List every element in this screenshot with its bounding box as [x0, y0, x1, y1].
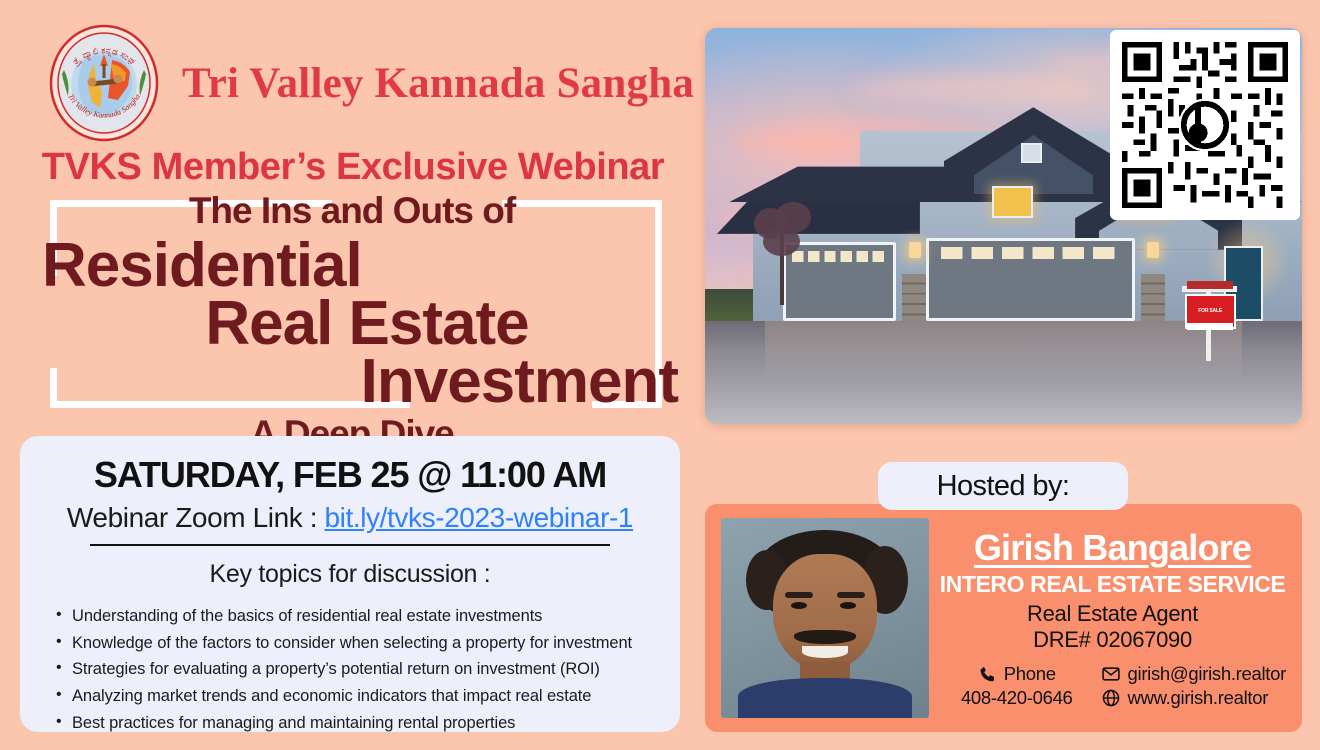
list-item: Analyzing market trends and economic ind…: [56, 683, 658, 710]
event-date-time: SATURDAY, FEB 25 @ 11:00 AM: [42, 454, 658, 496]
webinar-subtitle: TVKS Member’s Exclusive Webinar: [28, 146, 678, 189]
website-url: www.girish.realtor: [1128, 687, 1269, 709]
phone-label: Phone: [1004, 663, 1056, 685]
divider: [90, 544, 610, 546]
contact-grid: Phone girish@girish.realtor 408-420-0646: [939, 663, 1286, 709]
list-item: Understanding of the basics of residenti…: [56, 603, 658, 630]
topics-heading: Key topics for discussion :: [42, 560, 658, 589]
email-row[interactable]: girish@girish.realtor: [1101, 663, 1286, 685]
website-row[interactable]: www.girish.realtor: [1101, 687, 1286, 709]
zoom-link-label: Webinar Zoom Link :: [67, 502, 325, 533]
brand-header: ತ್ರೈ ವ್ಯಾಲಿ ಕನ್ನಡ ಸಂಘ Tri Valley Kannada…: [48, 24, 694, 142]
title-line-2: Residential: [42, 235, 678, 297]
topics-list: Understanding of the basics of residenti…: [56, 603, 658, 737]
girish-bangalore-headshot: [721, 518, 929, 718]
phone-row: Phone: [939, 663, 1095, 685]
host-role: Real Estate Agent: [939, 601, 1286, 627]
phone-number-row[interactable]: 408-420-0646: [939, 687, 1095, 709]
list-item: Best practices for managing and maintain…: [56, 710, 658, 737]
zoom-link-row: Webinar Zoom Link : bit.ly/tvks-2023-web…: [42, 502, 658, 534]
globe-icon: [1101, 688, 1121, 708]
for-sale-sign: FOR SALE: [1177, 281, 1243, 360]
email-address: girish@girish.realtor: [1128, 663, 1286, 685]
host-company: INTERO REAL ESTATE SERVICE: [939, 571, 1286, 598]
for-sale-sign-text: FOR SALE: [1198, 309, 1222, 314]
title-line-1: The Ins and Outs of: [26, 192, 678, 229]
host-dre-number: DRE# 02067090: [939, 627, 1286, 653]
org-name: Tri Valley Kannada Sangha: [182, 59, 694, 108]
phone-number: 408-420-0646: [961, 687, 1073, 709]
hosted-by-label: Hosted by:: [878, 462, 1128, 510]
title-line-4: Investment: [28, 351, 678, 413]
list-item: Strategies for evaluating a property’s p…: [56, 656, 658, 683]
phone-icon: [978, 665, 997, 684]
host-name: Girish Bangalore: [939, 527, 1286, 569]
list-item: Knowledge of the factors to consider whe…: [56, 630, 658, 657]
envelope-icon: [1101, 664, 1121, 684]
zoom-link[interactable]: bit.ly/tvks-2023-webinar-1: [324, 502, 633, 533]
bitly-qr-code[interactable]: [1110, 30, 1300, 220]
event-details-card: SATURDAY, FEB 25 @ 11:00 AM Webinar Zoom…: [20, 436, 680, 732]
tree-decoration: [747, 202, 819, 305]
title-line-3: Real Estate: [56, 293, 678, 355]
page-title: The Ins and Outs of Residential Real Est…: [28, 192, 678, 452]
host-details: Girish Bangalore INTERO REAL ESTATE SERV…: [929, 527, 1286, 709]
tvks-globe-emblem-icon: ತ್ರೈ ವ್ಯಾಲಿ ಕನ್ನಡ ಸಂಘ Tri Valley Kannada…: [48, 24, 160, 142]
host-card: Girish Bangalore INTERO REAL ESTATE SERV…: [705, 504, 1302, 732]
webinar-poster: ತ್ರೈ ವ್ಯಾಲಿ ಕನ್ನಡ ಸಂಘ Tri Valley Kannada…: [0, 0, 1320, 750]
